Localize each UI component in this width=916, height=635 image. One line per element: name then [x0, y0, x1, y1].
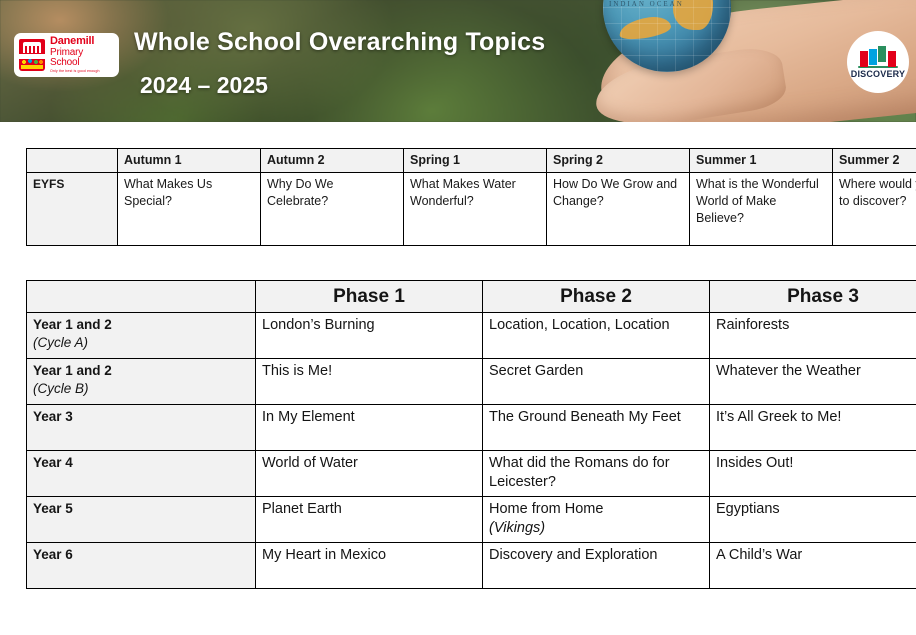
cell-y3-phase-2: The Ground Beneath My Feet — [483, 405, 710, 451]
row-year-label: Year 6 — [33, 547, 73, 562]
globe-gridlines — [603, 0, 731, 72]
row-label-year-3: Year 3 — [27, 405, 256, 451]
cell-y4-phase-1: World of Water — [256, 451, 483, 497]
cell-eyfs-autumn-1: What Makes Us Special? — [118, 172, 261, 245]
table-row: EYFS What Makes Us Special? Why Do We Ce… — [27, 172, 916, 245]
school-crest-icon — [19, 39, 45, 71]
cell-y4-phase-3: Insides Out! — [710, 451, 916, 497]
eyfs-topics-table: Autumn 1 Autumn 2 Spring 1 Spring 2 Summ… — [26, 148, 916, 246]
table-row: Year 3 In My Element The Ground Beneath … — [27, 405, 916, 451]
school-logo: Danemill Primary School Only the best is… — [14, 33, 119, 77]
table-row: Year 4 World of Water What did the Roman… — [27, 451, 916, 497]
cell-main-text: Home from Home — [489, 501, 603, 517]
column-header-spring-2: Spring 2 — [547, 149, 690, 173]
row-label-year-5: Year 5 — [27, 497, 256, 543]
cell-y5-phase-3: Egyptians — [710, 497, 916, 543]
table-row: Year 1 and 2 (Cycle B) This is Me! Secre… — [27, 359, 916, 405]
row-label-year-1-2-cycle-b: Year 1 and 2 (Cycle B) — [27, 359, 256, 405]
cell-eyfs-spring-1: What Makes Water Wonderful? — [404, 172, 547, 245]
crest-building-shape — [23, 42, 41, 53]
page-banner: INDIAN OCEAN Danemill Primary School Onl… — [0, 0, 916, 122]
column-header-summer-1: Summer 1 — [690, 149, 833, 173]
table-header-row: Phase 1 Phase 2 Phase 3 — [27, 281, 916, 313]
school-logo-tagline: Only the best is good enough — [50, 70, 114, 74]
cell-y12a-phase-1: London’s Burning — [256, 313, 483, 359]
row-label-year-1-2-cycle-a: Year 1 and 2 (Cycle A) — [27, 313, 256, 359]
cell-y6-phase-2: Discovery and Exploration — [483, 543, 710, 589]
page-title: Whole School Overarching Topics — [134, 28, 545, 58]
column-header-phase-3: Phase 3 — [710, 281, 916, 313]
cell-y12b-phase-2: Secret Garden — [483, 359, 710, 405]
row-year-label: Year 1 and 2 — [33, 363, 112, 378]
row-cycle-label: (Cycle B) — [33, 380, 249, 398]
cell-note-text: (Vikings) — [489, 520, 545, 536]
cell-y12b-phase-1: This is Me! — [256, 359, 483, 405]
globe-icon: INDIAN OCEAN — [603, 0, 731, 72]
cell-y12a-phase-2: Location, Location, Location — [483, 313, 710, 359]
figure-left — [860, 51, 868, 67]
discovery-logo-label: DISCOVERY — [851, 69, 905, 79]
figure-center — [878, 46, 886, 62]
cell-eyfs-autumn-2: Why Do We Celebrate? — [261, 172, 404, 245]
globe-ocean-label: INDIAN OCEAN — [609, 0, 684, 8]
row-year-label: Year 5 — [33, 501, 73, 516]
school-logo-subtitle: Primary School — [50, 48, 114, 68]
phase-corner-cell — [27, 281, 256, 313]
cell-y12a-phase-3: Rainforests — [710, 313, 916, 359]
cell-eyfs-spring-2: How Do We Grow and Change? — [547, 172, 690, 245]
discovery-figures-icon — [858, 46, 898, 66]
cell-y6-phase-1: My Heart in Mexico — [256, 543, 483, 589]
cell-y5-phase-1: Planet Earth — [256, 497, 483, 543]
table-row: Year 1 and 2 (Cycle A) London’s Burning … — [27, 313, 916, 359]
table-header-row: Autumn 1 Autumn 2 Spring 1 Spring 2 Summ… — [27, 149, 916, 173]
discovery-logo: DISCOVERY — [847, 31, 909, 93]
column-header-spring-1: Spring 1 — [404, 149, 547, 173]
eyfs-corner-cell — [27, 149, 118, 173]
column-header-phase-2: Phase 2 — [483, 281, 710, 313]
cell-y3-phase-3: It’s All Greek to Me! — [710, 405, 916, 451]
row-label-year-6: Year 6 — [27, 543, 256, 589]
page-subtitle: 2024 – 2025 — [140, 72, 268, 99]
cell-y6-phase-3: A Child’s War — [710, 543, 916, 589]
row-cycle-label: (Cycle A) — [33, 334, 249, 352]
row-label-eyfs: EYFS — [27, 172, 118, 245]
table-row: Year 6 My Heart in Mexico Discovery and … — [27, 543, 916, 589]
row-year-label: Year 3 — [33, 409, 73, 424]
cell-y4-phase-2: What did the Romans do for Leicester? — [483, 451, 710, 497]
phase-topics-table: Phase 1 Phase 2 Phase 3 Year 1 and 2 (Cy… — [26, 280, 916, 589]
row-label-year-4: Year 4 — [27, 451, 256, 497]
figure-mid-left — [869, 49, 877, 65]
cell-eyfs-summer-1: What is the Wonderful World of Make Beli… — [690, 172, 833, 245]
cell-y3-phase-1: In My Element — [256, 405, 483, 451]
column-header-phase-1: Phase 1 — [256, 281, 483, 313]
cell-y5-phase-2: Home from Home (Vikings) — [483, 497, 710, 543]
cell-y12b-phase-3: Whatever the Weather — [710, 359, 916, 405]
column-header-summer-2: Summer 2 — [833, 149, 916, 173]
table-row: Year 5 Planet Earth Home from Home (Viki… — [27, 497, 916, 543]
school-logo-name: Danemill — [50, 36, 114, 47]
cell-eyfs-summer-2: Where would you like to discover? — [833, 172, 916, 245]
row-year-label: Year 4 — [33, 455, 73, 470]
column-header-autumn-1: Autumn 1 — [118, 149, 261, 173]
figure-right — [888, 51, 896, 67]
row-year-label: Year 1 and 2 — [33, 317, 112, 332]
column-header-autumn-2: Autumn 2 — [261, 149, 404, 173]
crest-children-shape — [21, 59, 43, 69]
